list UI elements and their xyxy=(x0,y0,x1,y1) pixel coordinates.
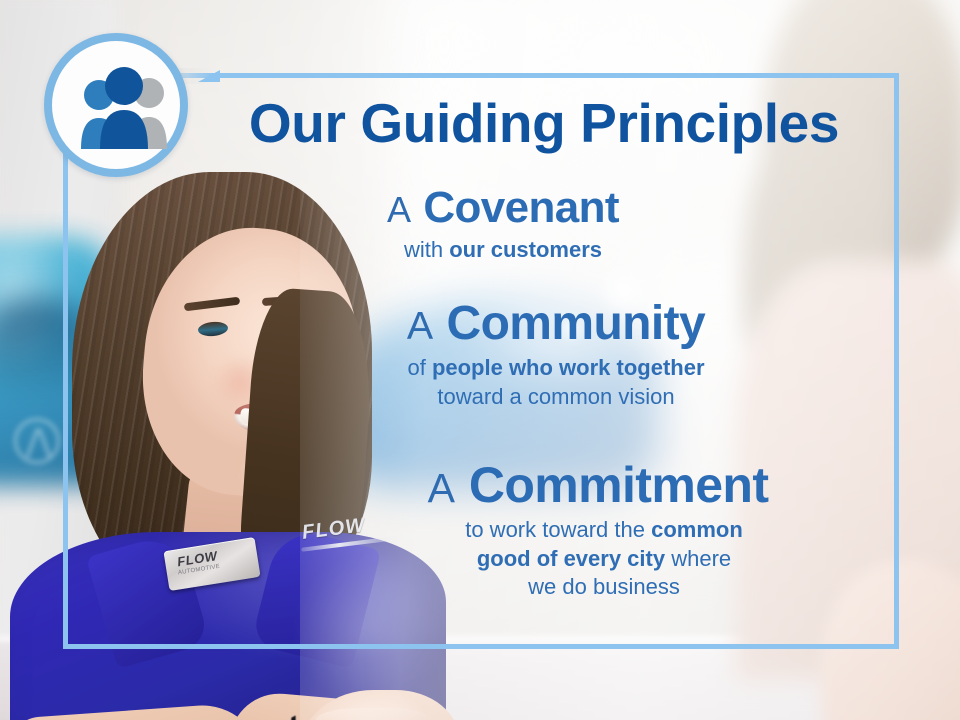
subtext-line: to work toward the common xyxy=(248,516,960,545)
principle-covenant-heading: A Covenant xyxy=(0,186,960,231)
principle-lead-word: A xyxy=(428,465,455,511)
principle-community-heading: A Community xyxy=(0,300,960,349)
subtext-bold: people who work together xyxy=(432,355,705,380)
principle-community-subtext: of people who work together toward a com… xyxy=(0,354,960,411)
subtext-line: good of every city where xyxy=(248,545,960,574)
subtext-line: we do business xyxy=(248,573,960,602)
subtext-line: of people who work together xyxy=(152,354,960,383)
principle-commitment: A Commitment to work toward the common g… xyxy=(0,460,960,602)
principle-community: A Community of people who work together … xyxy=(0,300,960,411)
subtext-regular: with xyxy=(404,237,449,262)
principle-commitment-subtext: to work toward the common good of every … xyxy=(0,516,960,602)
principle-lead-word: A xyxy=(407,304,433,348)
subtext-regular: where xyxy=(665,546,731,571)
principle-commitment-heading: A Commitment xyxy=(0,460,960,511)
banner-canvas: FLOW FLOW AUTOMOTIVE xyxy=(0,0,960,720)
subtext-bold: common xyxy=(651,517,743,542)
subtext-regular: of xyxy=(407,355,431,380)
principle-covenant: A Covenant with our customers xyxy=(0,186,960,264)
text-content: Our Guiding Principles A Covenant with o… xyxy=(0,0,960,720)
principle-lead-word: A xyxy=(387,189,411,230)
principle-covenant-subtext: with our customers xyxy=(0,236,960,265)
subtext-bold: good of every city xyxy=(477,546,665,571)
page-title: Our Guiding Principles xyxy=(214,95,874,153)
subtext-regular: to work toward the xyxy=(465,517,651,542)
subtext-bold: our customers xyxy=(449,237,602,262)
subtext-line: toward a common vision xyxy=(152,383,960,412)
principle-keyword: Covenant xyxy=(423,183,619,232)
principle-keyword: Community xyxy=(447,297,706,350)
principle-keyword: Commitment xyxy=(469,457,769,513)
